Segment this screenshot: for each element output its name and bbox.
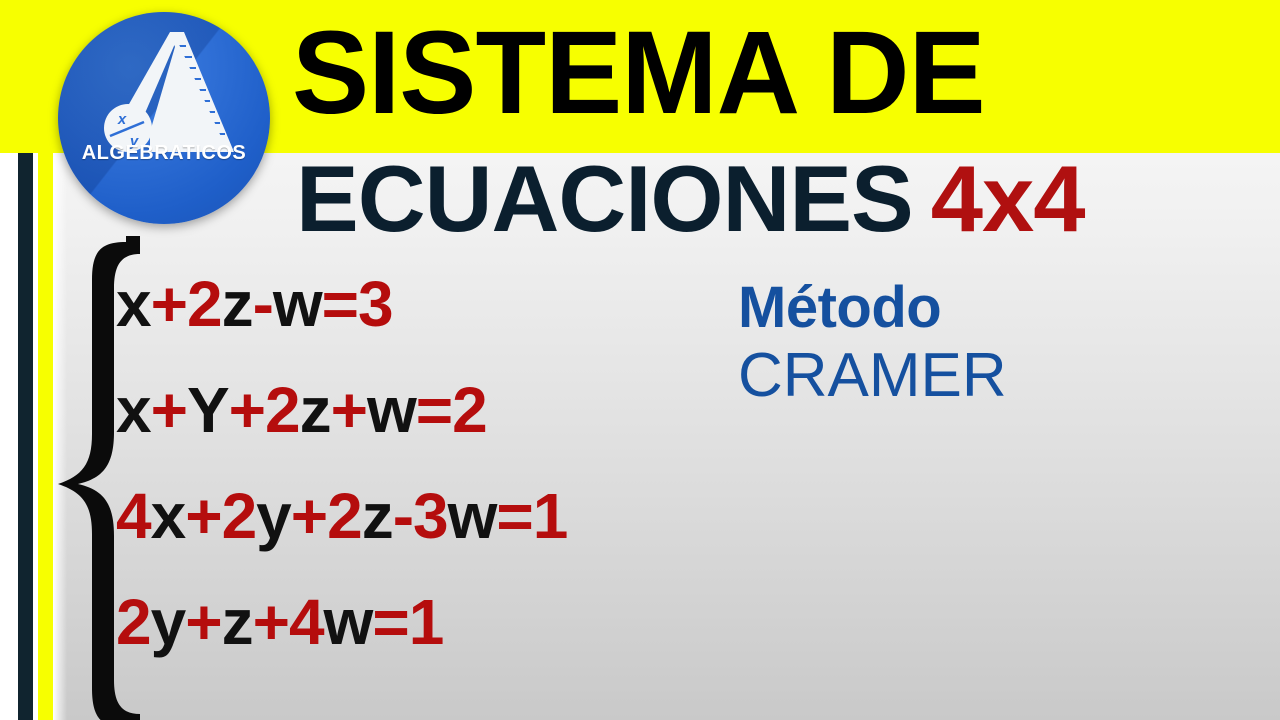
equation-token: w bbox=[367, 374, 416, 446]
equation-eq4: 2y+z+4w=1 bbox=[116, 590, 836, 654]
method-name: CRAMER bbox=[738, 341, 1007, 410]
method-label: Método CRAMER bbox=[738, 276, 1007, 410]
equation-token: z bbox=[222, 268, 253, 340]
equation-token: Y bbox=[187, 374, 229, 446]
equation-eq1: x+2z-w=3 bbox=[116, 272, 836, 336]
equation-token: 2 bbox=[116, 586, 151, 658]
logo-brand-text: ALGEBRATICOS bbox=[58, 142, 270, 165]
equation-token: + bbox=[151, 374, 187, 446]
equation-token: +4 bbox=[253, 586, 324, 658]
svg-text:x: x bbox=[117, 111, 127, 128]
equation-token: z bbox=[362, 480, 393, 552]
title-subject: ECUACIONES bbox=[296, 146, 913, 251]
equation-token: + bbox=[331, 374, 367, 446]
equation-token: x bbox=[116, 268, 151, 340]
equation-token: w bbox=[324, 586, 373, 658]
equation-token: y bbox=[151, 586, 186, 658]
title-line-2: ECUACIONES4x4 bbox=[296, 152, 1085, 246]
equation-token: x bbox=[151, 480, 186, 552]
equation-token: x bbox=[116, 374, 151, 446]
equation-token: +2 bbox=[185, 480, 256, 552]
method-word: Método bbox=[738, 276, 1007, 341]
equation-token: y bbox=[256, 480, 291, 552]
equation-token: - bbox=[253, 268, 273, 340]
equation-token: +2 bbox=[151, 268, 222, 340]
equation-system: x+2z-w=3 x+Y+2z+w=2 4x+2y+2z-3w=1 2y+z+4… bbox=[116, 272, 836, 696]
equation-token: =2 bbox=[416, 374, 487, 446]
equation-token: -3 bbox=[393, 480, 448, 552]
equation-token: +2 bbox=[291, 480, 362, 552]
slide-canvas: x y ALGEBRATICOS SISTEMA DE ECUACIONES4x… bbox=[0, 0, 1280, 720]
equation-eq2: x+Y+2z+w=2 bbox=[116, 378, 836, 442]
title-line-1: SISTEMA DE bbox=[292, 14, 985, 132]
equation-token: 4 bbox=[116, 480, 151, 552]
equation-token: w bbox=[273, 268, 322, 340]
equation-token: w bbox=[448, 480, 497, 552]
left-white-margin bbox=[0, 153, 18, 720]
equation-token: +2 bbox=[229, 374, 300, 446]
title-size-tag: 4x4 bbox=[931, 146, 1085, 251]
equation-token: z bbox=[300, 374, 331, 446]
equation-token: + bbox=[185, 586, 221, 658]
equation-token: =1 bbox=[496, 480, 567, 552]
equation-eq3: 4x+2y+2z-3w=1 bbox=[116, 484, 836, 548]
equation-token: =3 bbox=[322, 268, 393, 340]
compass-ruler-icon: x y bbox=[58, 12, 270, 224]
bar-white-gap bbox=[33, 153, 38, 720]
equation-token: z bbox=[222, 586, 253, 658]
algebraticos-logo: x y ALGEBRATICOS bbox=[58, 12, 270, 224]
equation-token: =1 bbox=[372, 586, 443, 658]
